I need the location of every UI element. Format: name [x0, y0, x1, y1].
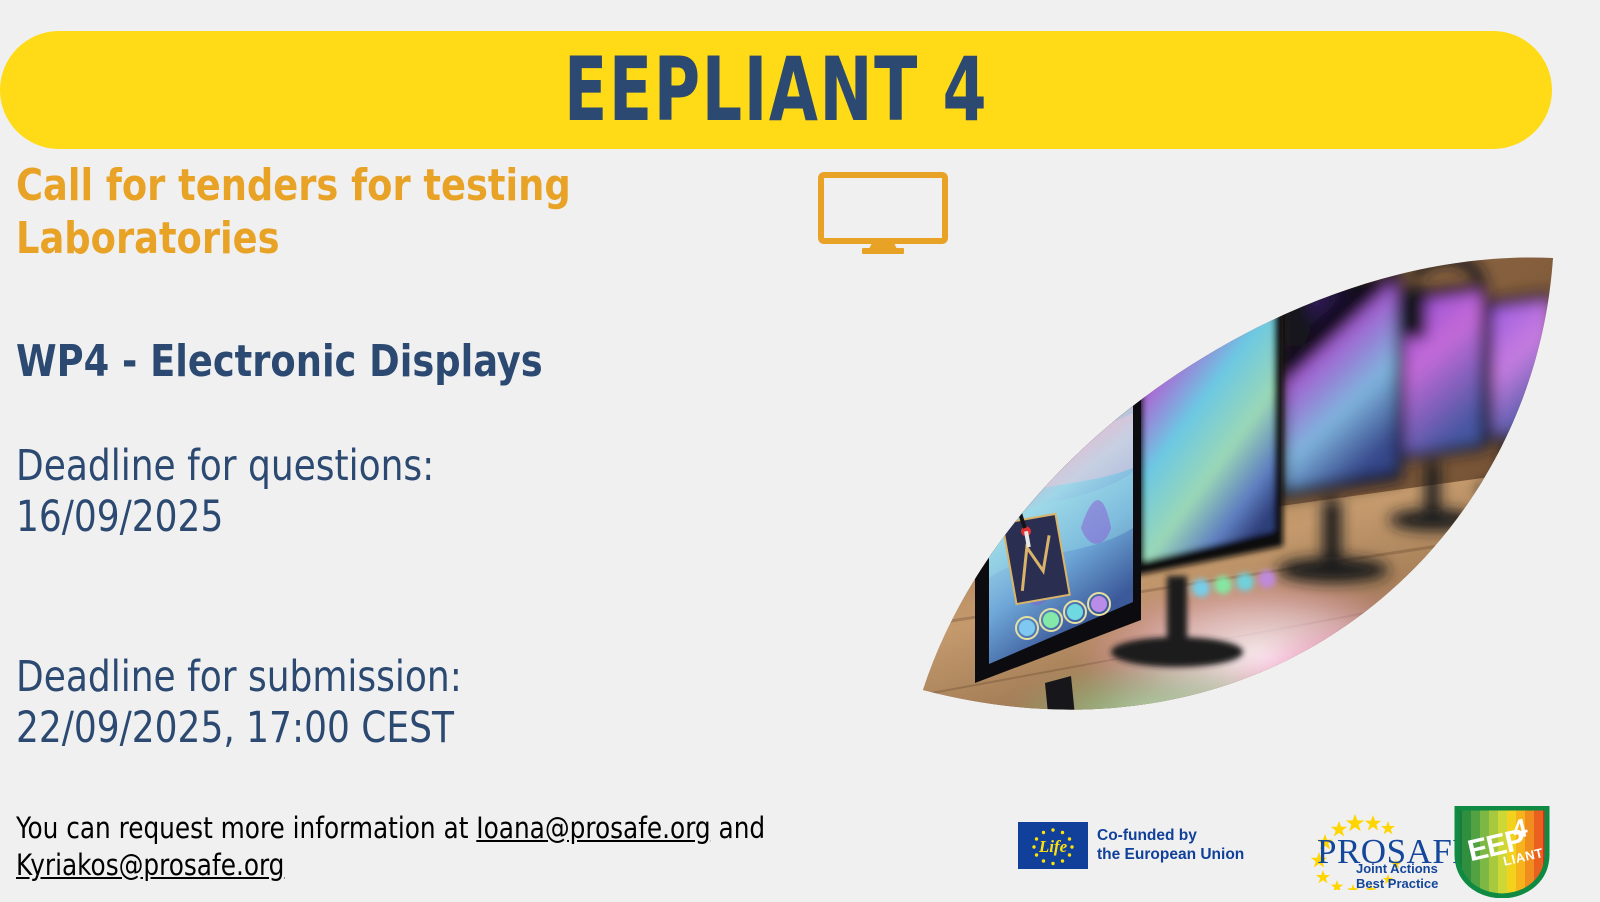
contact-conjunction: and: [711, 811, 766, 845]
contact-prefix: You can request more information at: [16, 811, 476, 845]
eu-cofunded-logo: Life Co-funded by the European Union: [1018, 822, 1244, 869]
prosafe-logo: PROSAFE Joint Actions Best Practice: [1293, 812, 1441, 890]
deadline-submission-block: Deadline for submission: 22/09/2025, 17:…: [16, 542, 816, 753]
hero-photo: [905, 228, 1555, 790]
prosafe-tagline-line-1: Joint Actions: [1356, 862, 1438, 877]
deadline-questions-block: Deadline for questions: 16/09/2025: [16, 386, 816, 542]
eu-logo-line-1: Co-funded by: [1097, 827, 1244, 846]
prosafe-tagline-line-2: Best Practice: [1356, 877, 1438, 892]
work-package-heading: WP4 - Electronic Displays: [16, 266, 816, 386]
eu-flag-icon: Life: [1018, 822, 1088, 869]
email-link-kyriakos[interactable]: Kyriakos@prosafe.org: [16, 848, 284, 882]
subtitle-call-for-tenders: Call for tenders for testing Laboratorie…: [16, 160, 648, 266]
email-link-ioana[interactable]: Ioana@prosafe.org: [476, 811, 710, 845]
eepliant-4-shield-logo: EEP 4 LIANT: [1453, 806, 1551, 898]
deadline-questions-value: 16/09/2025: [16, 492, 816, 543]
svg-text:Life: Life: [1038, 837, 1068, 856]
prosafe-tagline: Joint Actions Best Practice: [1356, 862, 1438, 891]
deadline-questions-label: Deadline for questions:: [16, 441, 816, 492]
deadline-submission-label: Deadline for submission:: [16, 652, 816, 703]
header-banner: EEPLIANT 4: [0, 31, 1552, 149]
deadline-submission-value: 22/09/2025, 17:00 CEST: [16, 703, 816, 754]
content-column: Call for tenders for testing Laboratorie…: [16, 160, 876, 754]
poster-canvas: EEPLIANT 4 Call for tenders for testing …: [0, 0, 1600, 900]
eu-logo-line-2: the European Union: [1097, 846, 1244, 865]
eu-logo-text: Co-funded by the European Union: [1097, 827, 1244, 865]
contact-info: You can request more information at Ioan…: [16, 810, 805, 884]
logo-row: Life Co-funded by the European Union: [1010, 806, 1585, 898]
page-title: EEPLIANT 4: [564, 46, 988, 134]
